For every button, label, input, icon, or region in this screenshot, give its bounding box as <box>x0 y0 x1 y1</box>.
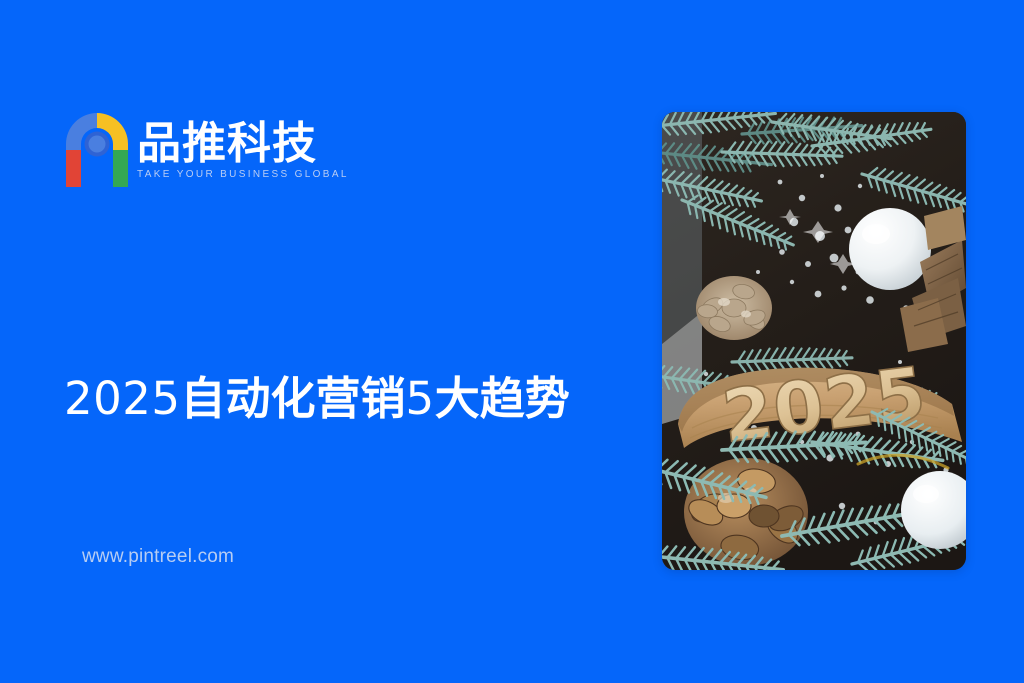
hero-photo: 2025 <box>662 112 966 570</box>
brand-text-block: 品推科技 TAKE YOUR BUSINESS GLOBAL <box>137 120 349 181</box>
headline-topic: 自动化营销 <box>181 372 406 425</box>
brand-tagline: TAKE YOUR BUSINESS GLOBAL <box>137 170 349 180</box>
headline-year: 2025 <box>64 372 181 425</box>
page-title: 2025自动化营销5大趋势 <box>64 370 624 428</box>
headline-suffix: 大趋势 <box>435 372 570 425</box>
brand-lockup: 品推科技 TAKE YOUR BUSINESS GLOBAL <box>66 113 349 187</box>
website-url[interactable]: www.pintreel.com <box>82 547 234 566</box>
pintreel-circle-a-logo-icon <box>66 113 128 187</box>
poster-canvas: 品推科技 TAKE YOUR BUSINESS GLOBAL 2025自动化营销… <box>0 0 1024 683</box>
headline-count: 5 <box>406 372 435 425</box>
brand-name: 品推科技 <box>137 122 349 167</box>
